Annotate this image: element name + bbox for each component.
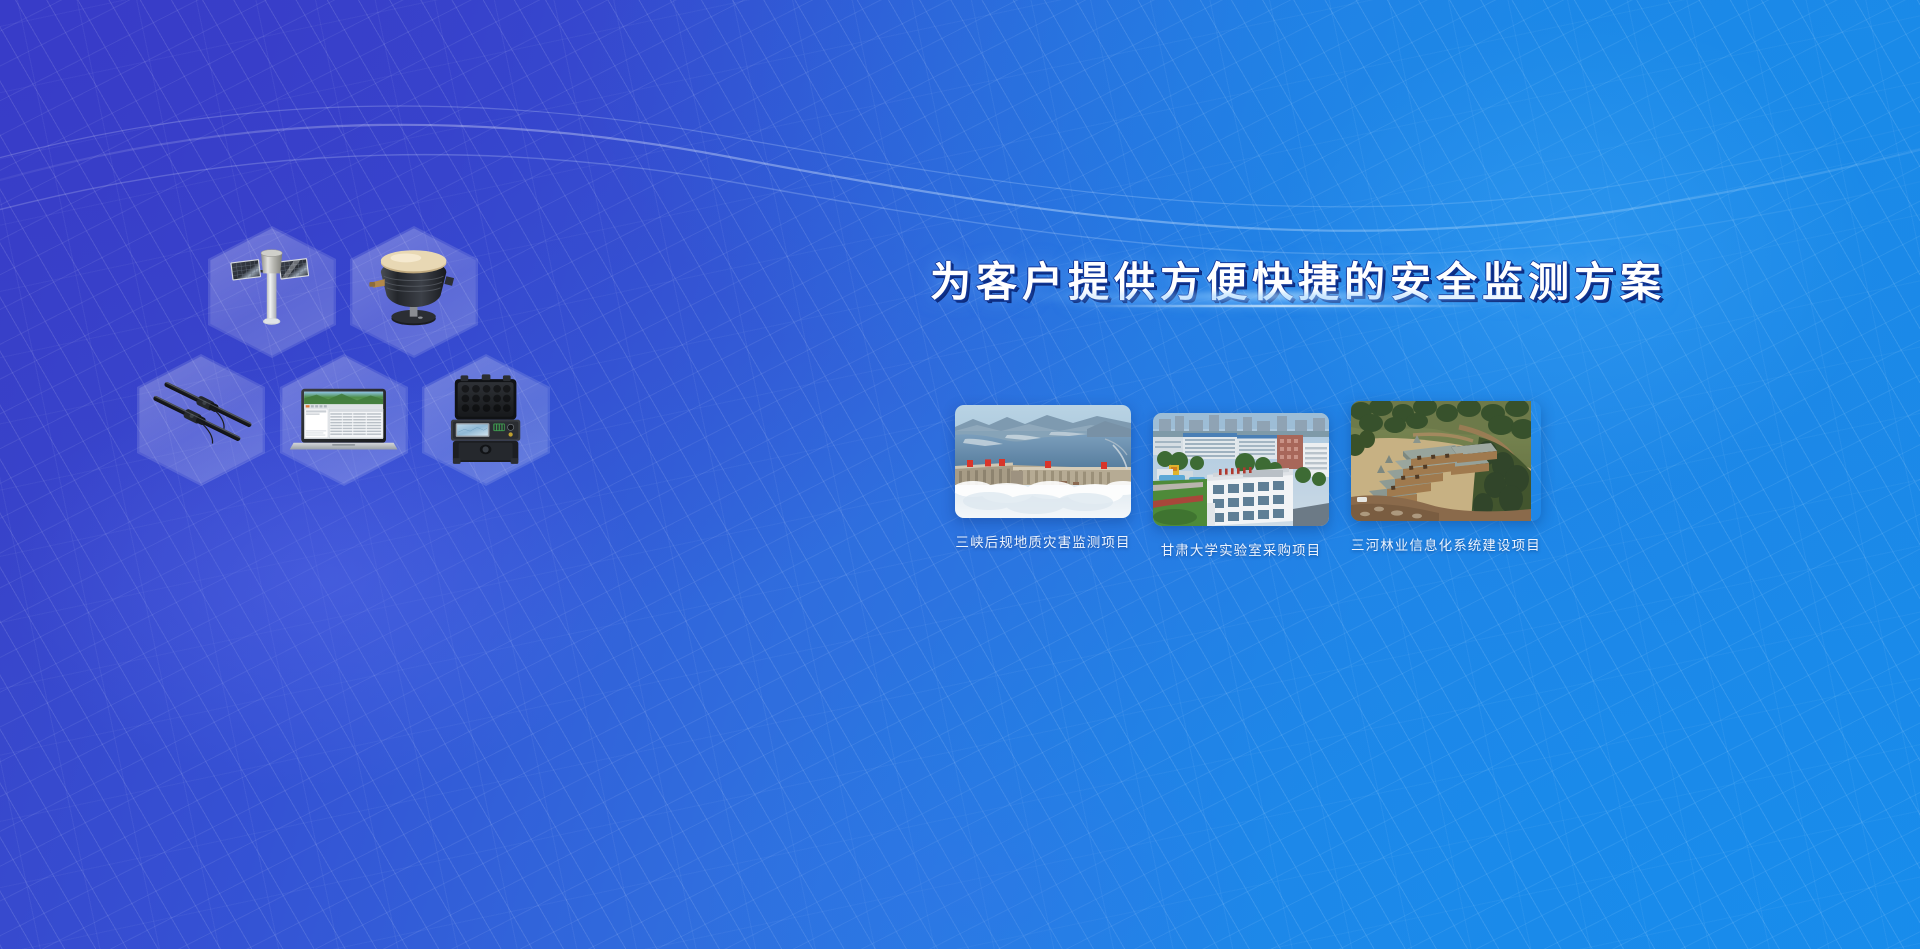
case-thumbnail[interactable]	[955, 405, 1131, 518]
banner-stage: 为客户提供方便快捷的安全监测方案	[0, 0, 1920, 949]
product-hex-inclinometer-rod[interactable]	[137, 354, 265, 486]
case-study-list: 三峡后规地质灾害监测项目	[955, 405, 1541, 559]
gnss-solar-monitoring-station-icon	[210, 228, 333, 355]
product-hex-gnss-station[interactable]	[208, 226, 336, 358]
case-caption: 三峡后规地质灾害监测项目	[955, 531, 1131, 551]
case-card[interactable]: 甘肃大学实验室采购项目	[1153, 413, 1329, 559]
headline: 为客户提供方便快捷的安全监测方案	[930, 262, 1666, 303]
monitoring-software-laptop-icon	[282, 356, 405, 483]
case-thumbnail[interactable]	[1153, 413, 1329, 526]
three-gorges-dam-photo	[955, 405, 1131, 518]
headline-text: 为客户提供方便快捷的安全监测方案	[930, 262, 1666, 303]
mountain-village-photo	[1351, 401, 1531, 521]
portable-instrument-case-icon	[424, 356, 547, 483]
case-caption: 三河林业信息化系统建设项目	[1351, 534, 1541, 554]
case-card[interactable]: 三河林业信息化系统建设项目	[1351, 401, 1541, 554]
case-caption: 甘肃大学实验室采购项目	[1153, 539, 1329, 559]
product-hex-gnss-antenna[interactable]	[350, 226, 478, 358]
case-thumbnail[interactable]	[1351, 401, 1541, 521]
university-campus-photo	[1153, 413, 1329, 526]
product-hex-monitoring-software[interactable]	[280, 354, 408, 486]
gnss-receiver-antenna-icon	[352, 228, 475, 355]
case-card[interactable]: 三峡后规地质灾害监测项目	[955, 405, 1131, 551]
background-glow-bottom	[538, 664, 1383, 949]
product-hex-instrument-case[interactable]	[422, 354, 550, 486]
inclinometer-rod-sensor-icon	[139, 356, 262, 483]
product-hex-cluster	[132, 226, 572, 494]
